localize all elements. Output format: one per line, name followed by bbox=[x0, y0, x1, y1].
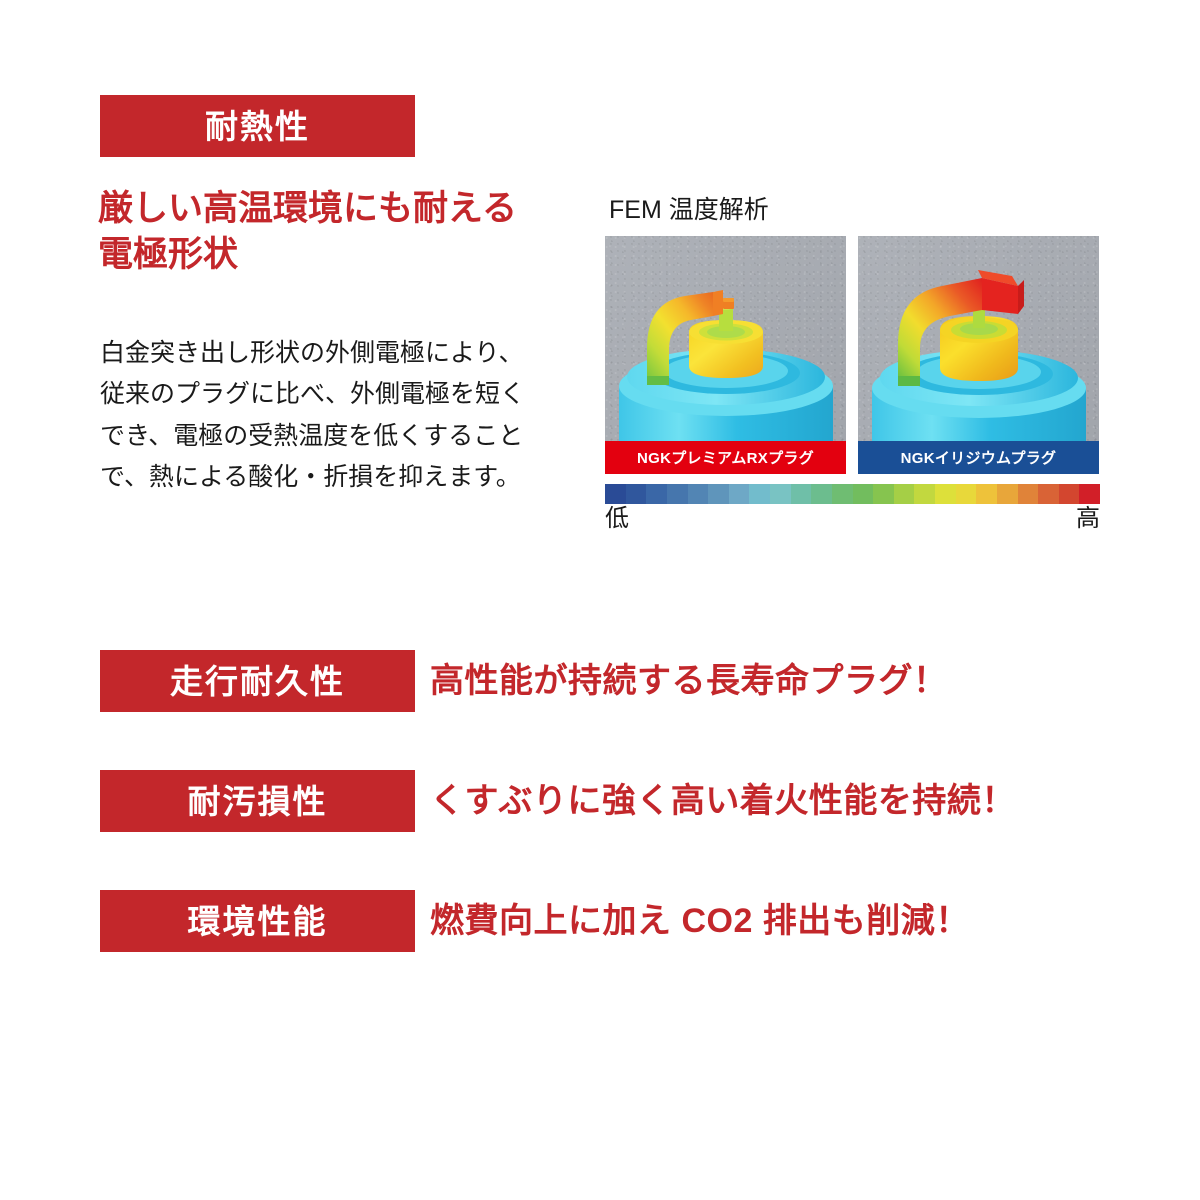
scale-segment-15 bbox=[914, 484, 935, 504]
scale-segment-4 bbox=[688, 484, 709, 504]
heat-body-line-4: で、熱による酸化・折損を抑えます。 bbox=[100, 457, 592, 498]
fem-panel-iridium: NGKイリジウムプラグ bbox=[858, 236, 1099, 474]
scale-segment-22 bbox=[1059, 484, 1080, 504]
scale-segment-5 bbox=[708, 484, 729, 504]
fem-render-iridium bbox=[858, 236, 1099, 474]
feature-row-environmental-performance: 環境性能 燃費向上に加え CO2 排出も削減！ bbox=[100, 890, 1100, 952]
scale-segment-12 bbox=[853, 484, 874, 504]
feature-chip-label: 走行耐久性 bbox=[170, 665, 345, 698]
fem-figure-title: FEM 温度解析 bbox=[605, 198, 1100, 223]
feature-chip: 走行耐久性 bbox=[100, 650, 415, 712]
heat-body-text: 白金突き出し形状の外側電極により、 従来のプラグに比べ、外側電極を短く でき、電… bbox=[100, 333, 592, 498]
feature-row-fouling-resistance: 耐汚損性 くすぶりに強く高い着火性能を持続！ bbox=[100, 770, 1100, 832]
temperature-scale-bar bbox=[605, 484, 1100, 504]
feature-description-label: 高性能が持続する長寿命プラグ！ bbox=[430, 664, 948, 698]
fem-caption-premium-rx: NGKプレミアムRXプラグ bbox=[605, 441, 846, 474]
product-feature-page: 耐熱性 厳しい高温環境にも耐える 電極形状 白金突き出し形状の外側電極により、 … bbox=[0, 0, 1200, 1200]
scale-segment-16 bbox=[935, 484, 956, 504]
fem-caption-label: NGKプレミアムRXプラグ bbox=[637, 447, 814, 468]
fem-caption-label: NGKイリジウムプラグ bbox=[901, 447, 1057, 468]
scale-label-high: 高 bbox=[1076, 506, 1100, 532]
heat-subtitle-line-2: 電極形状 bbox=[98, 232, 598, 278]
feature-chip: 環境性能 bbox=[100, 890, 415, 952]
feature-description: 高性能が持続する長寿命プラグ！ bbox=[430, 650, 948, 712]
feature-description-label: くすぶりに強く高い着火性能を持続！ bbox=[430, 784, 1016, 818]
fem-panel-premium-rx: NGKプレミアムRXプラグ bbox=[605, 236, 846, 474]
temperature-scale: 低 高 bbox=[605, 484, 1100, 532]
temperature-scale-labels: 低 高 bbox=[605, 506, 1100, 532]
fem-render-premium-rx bbox=[605, 236, 846, 474]
fem-analysis-figure: FEM 温度解析 bbox=[605, 198, 1100, 532]
feature-description-label: 燃費向上に加え CO2 排出も削減！ bbox=[430, 904, 970, 938]
scale-segment-1 bbox=[626, 484, 647, 504]
scale-segment-18 bbox=[976, 484, 997, 504]
heat-subtitle-line-1: 厳しい高温環境にも耐える bbox=[98, 186, 598, 232]
scale-segment-19 bbox=[997, 484, 1018, 504]
scale-segment-21 bbox=[1038, 484, 1059, 504]
scale-segment-0 bbox=[605, 484, 626, 504]
feature-row-driving-durability: 走行耐久性 高性能が持続する長寿命プラグ！ bbox=[100, 650, 1100, 712]
scale-segment-9 bbox=[791, 484, 812, 504]
feature-description: 燃費向上に加え CO2 排出も削減！ bbox=[430, 890, 970, 952]
scale-segment-20 bbox=[1018, 484, 1039, 504]
scale-segment-23 bbox=[1079, 484, 1100, 504]
scale-segment-8 bbox=[770, 484, 791, 504]
heat-body-line-1: 白金突き出し形状の外側電極により、 bbox=[100, 333, 592, 374]
feature-chip-label: 環境性能 bbox=[188, 905, 328, 938]
scale-segment-10 bbox=[811, 484, 832, 504]
scale-label-low: 低 bbox=[605, 506, 629, 532]
fem-caption-iridium: NGKイリジウムプラグ bbox=[858, 441, 1099, 474]
heat-subtitle: 厳しい高温環境にも耐える 電極形状 bbox=[98, 186, 598, 278]
scale-segment-11 bbox=[832, 484, 853, 504]
fem-panel-group: NGKプレミアムRXプラグ bbox=[605, 236, 1100, 474]
feature-chip: 耐汚損性 bbox=[100, 770, 415, 832]
scale-segment-14 bbox=[894, 484, 915, 504]
scale-segment-7 bbox=[749, 484, 770, 504]
scale-segment-2 bbox=[646, 484, 667, 504]
scale-segment-13 bbox=[873, 484, 894, 504]
section-chip-label: 耐熱性 bbox=[205, 110, 310, 143]
heat-body-line-3: でき、電極の受熱温度を低くすること bbox=[100, 416, 592, 457]
feature-description: くすぶりに強く高い着火性能を持続！ bbox=[430, 770, 1016, 832]
scale-segment-6 bbox=[729, 484, 750, 504]
scale-segment-17 bbox=[956, 484, 977, 504]
scale-segment-3 bbox=[667, 484, 688, 504]
section-chip-heat-resistance: 耐熱性 bbox=[100, 95, 415, 157]
heat-body-line-2: 従来のプラグに比べ、外側電極を短く bbox=[100, 374, 592, 415]
feature-chip-label: 耐汚損性 bbox=[188, 785, 328, 818]
